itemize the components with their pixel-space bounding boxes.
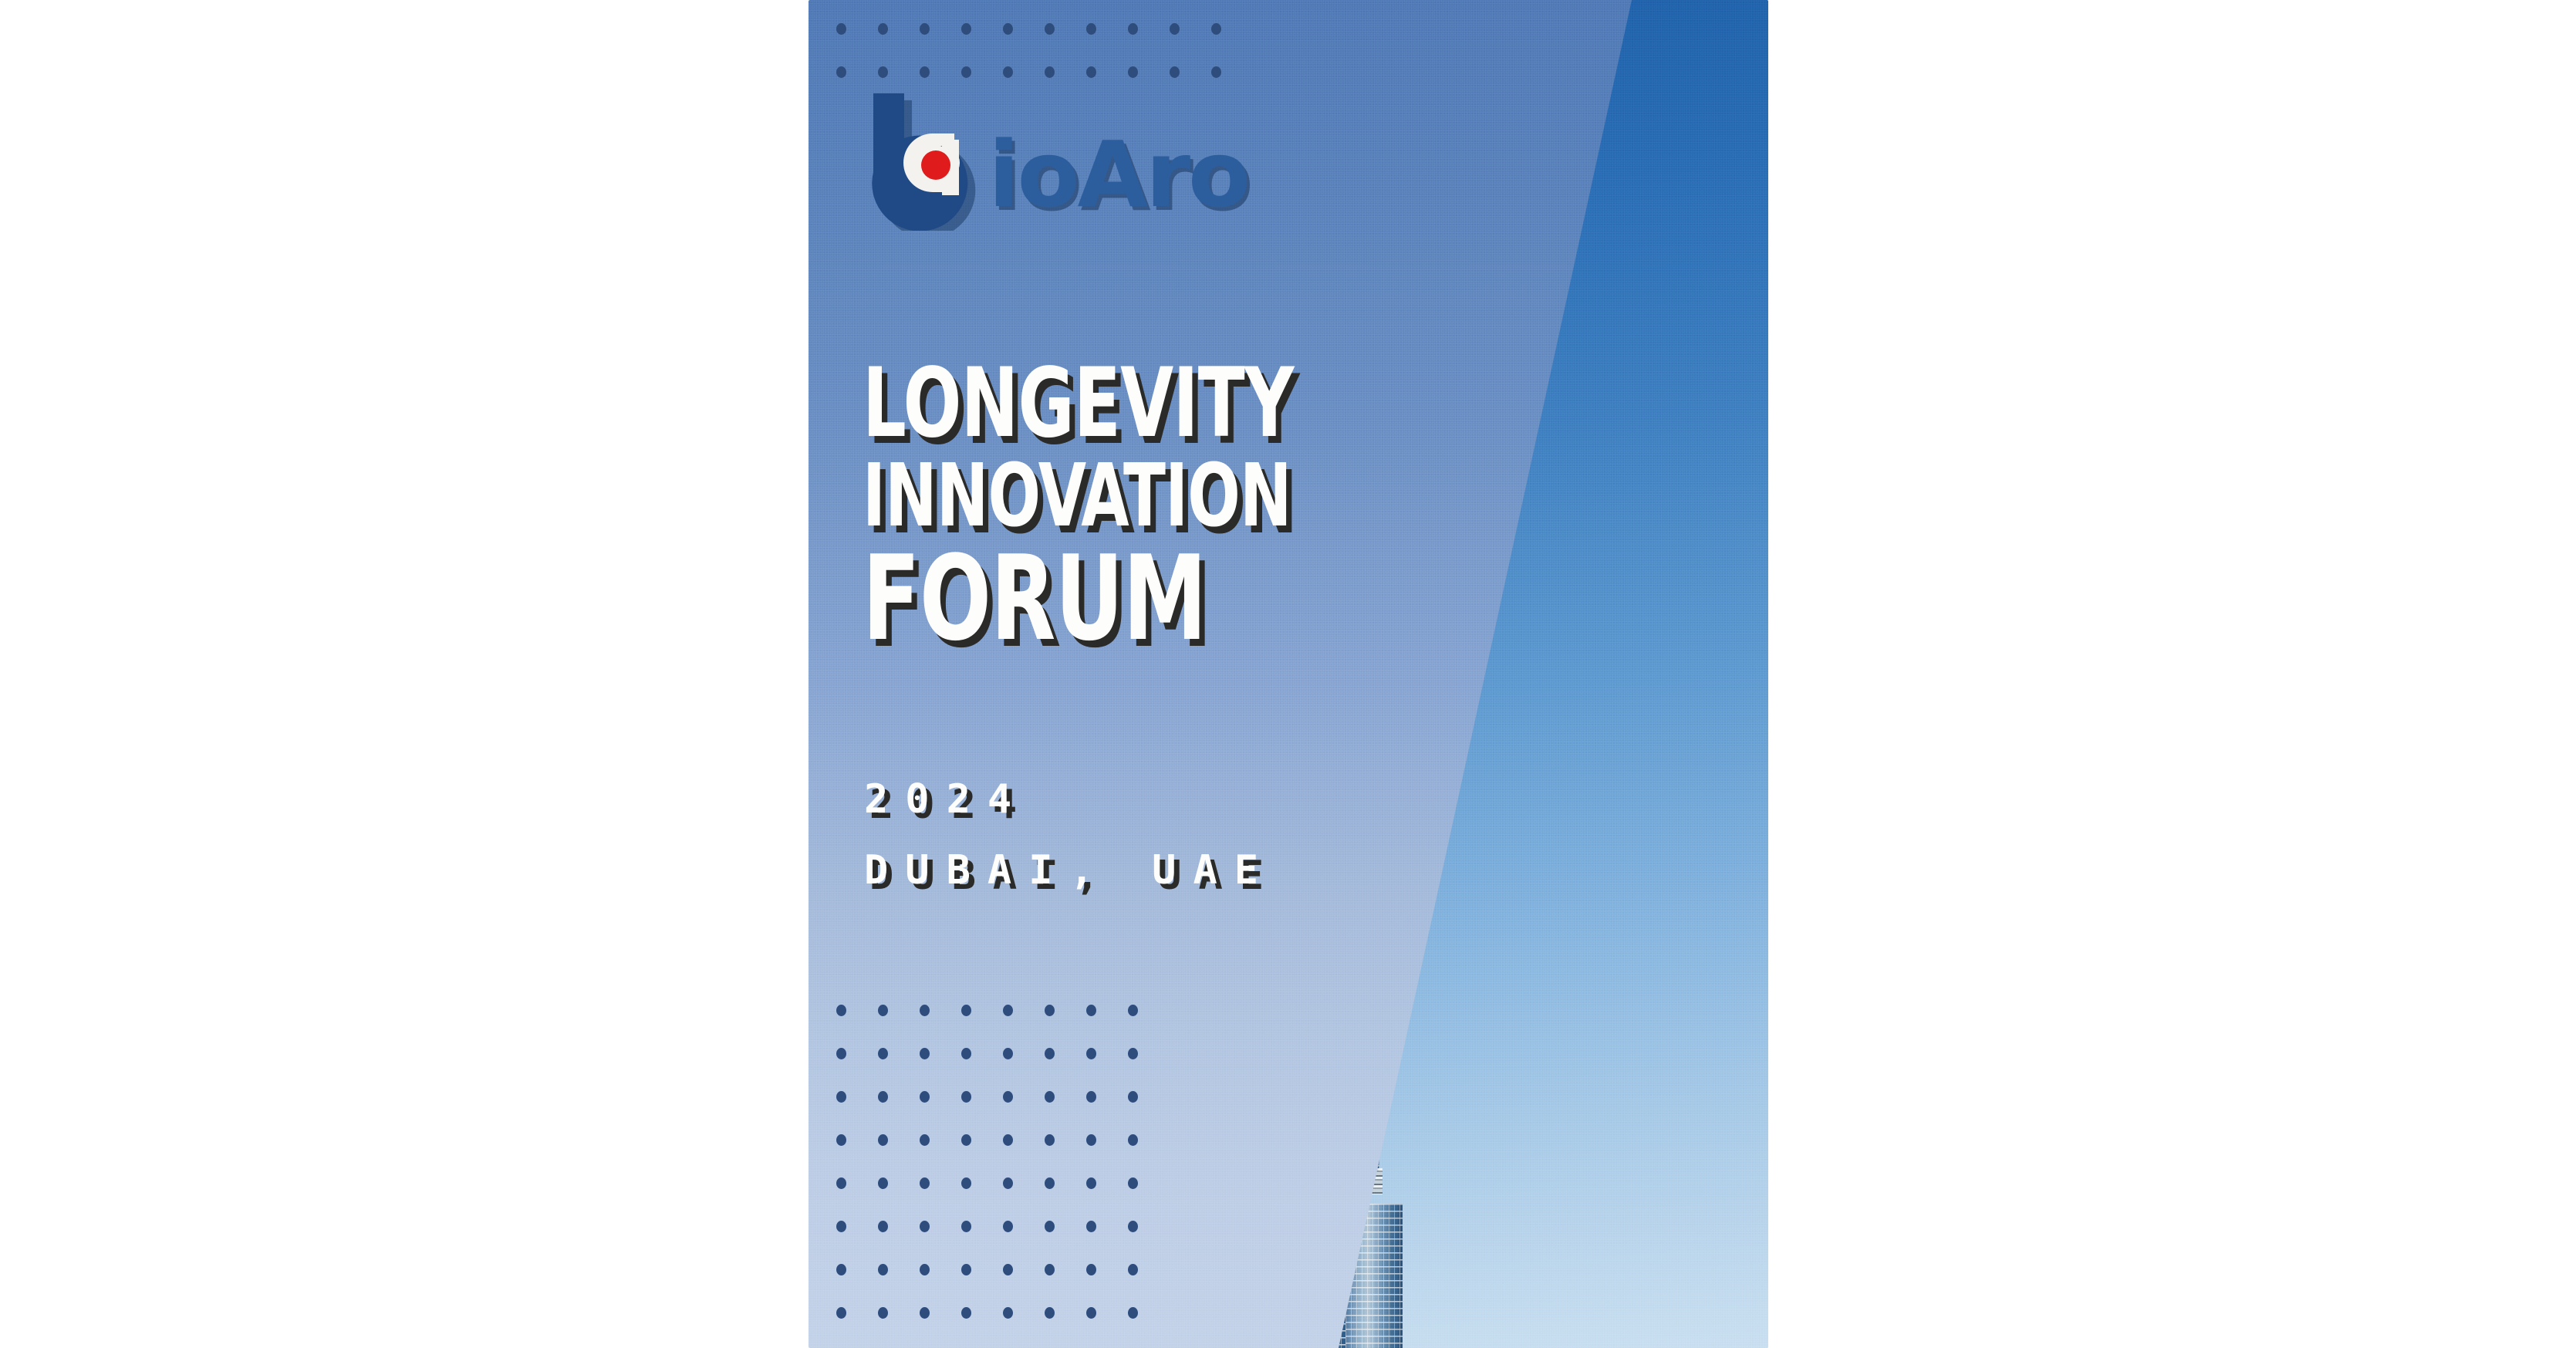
dot bbox=[836, 1221, 846, 1232]
event-location: DUBAI, UAE bbox=[864, 850, 1275, 890]
dot bbox=[1211, 23, 1221, 35]
dot bbox=[1086, 1134, 1096, 1146]
dot bbox=[920, 1307, 930, 1319]
dot bbox=[878, 1048, 888, 1059]
dot bbox=[1086, 1091, 1096, 1103]
dot bbox=[1128, 1221, 1138, 1232]
dot bbox=[1045, 1307, 1055, 1319]
dot bbox=[1045, 1264, 1055, 1275]
dot bbox=[878, 66, 888, 78]
dot bbox=[878, 1091, 888, 1103]
dot bbox=[878, 1264, 888, 1275]
dot bbox=[1003, 1221, 1013, 1232]
dot bbox=[920, 1091, 930, 1103]
dot bbox=[1003, 1177, 1013, 1189]
dot bbox=[1003, 1264, 1013, 1275]
dot bbox=[1128, 1264, 1138, 1275]
dot bbox=[1045, 66, 1055, 78]
dot bbox=[1128, 1307, 1138, 1319]
dot bbox=[920, 23, 930, 35]
dot bbox=[836, 1177, 846, 1189]
dot bbox=[961, 23, 971, 35]
dot bbox=[1045, 1048, 1055, 1059]
dot bbox=[961, 1177, 971, 1189]
dot bbox=[920, 1134, 930, 1146]
dot bbox=[920, 1177, 930, 1189]
dot bbox=[1003, 1134, 1013, 1146]
dot bbox=[836, 66, 846, 78]
dot bbox=[920, 1264, 930, 1275]
headline-line-2: INNOVATION bbox=[863, 459, 1369, 533]
dot bbox=[878, 23, 888, 35]
dot bbox=[836, 23, 846, 35]
dot bbox=[1045, 23, 1055, 35]
bioaro-logo[interactable]: ioAro bbox=[859, 100, 1248, 224]
dot bbox=[878, 1221, 888, 1232]
bioaro-b-mark-icon bbox=[859, 93, 1002, 231]
dot bbox=[836, 1005, 846, 1016]
event-year: 2024 bbox=[864, 779, 1275, 819]
dot bbox=[920, 1005, 930, 1016]
dot bbox=[1045, 1177, 1055, 1189]
dot bbox=[1170, 23, 1180, 35]
headline-line-1: LONGEVITY bbox=[863, 363, 1369, 445]
dot bbox=[836, 1048, 846, 1059]
dot bbox=[1128, 1177, 1138, 1189]
dot bbox=[1086, 1048, 1096, 1059]
dot bbox=[1003, 23, 1013, 35]
dot bbox=[878, 1134, 888, 1146]
dot bbox=[1045, 1091, 1055, 1103]
dot bbox=[961, 1221, 971, 1232]
dot bbox=[961, 66, 971, 78]
dot bbox=[1086, 66, 1096, 78]
dot bbox=[961, 1048, 971, 1059]
dot bbox=[836, 1134, 846, 1146]
dot bbox=[1128, 66, 1138, 78]
dot bbox=[878, 1177, 888, 1189]
dot bbox=[1003, 1005, 1013, 1016]
dot bbox=[1128, 1134, 1138, 1146]
dot bbox=[878, 1307, 888, 1319]
dot bbox=[961, 1134, 971, 1146]
page-canvas: ioAro LONGEVITY INNOVATION FORUM 2024 DU… bbox=[0, 0, 2576, 1348]
dot bbox=[1128, 23, 1138, 35]
dot bbox=[961, 1005, 971, 1016]
dot bbox=[1086, 1307, 1096, 1319]
dot bbox=[1045, 1005, 1055, 1016]
event-meta: 2024 DUBAI, UAE bbox=[864, 779, 1275, 890]
dot bbox=[1003, 1091, 1013, 1103]
dot bbox=[1086, 1264, 1096, 1275]
dot bbox=[1045, 1134, 1055, 1146]
event-poster: ioAro LONGEVITY INNOVATION FORUM 2024 DU… bbox=[809, 0, 1768, 1348]
dot bbox=[1128, 1048, 1138, 1059]
dot bbox=[1086, 1177, 1096, 1189]
poster-headline: LONGEVITY INNOVATION FORUM bbox=[863, 363, 1495, 650]
dot bbox=[920, 1048, 930, 1059]
dot bbox=[1086, 1005, 1096, 1016]
dot bbox=[1211, 66, 1221, 78]
dot bbox=[1128, 1091, 1138, 1103]
dot bbox=[1045, 1221, 1055, 1232]
dot bbox=[1086, 1221, 1096, 1232]
dot bbox=[961, 1307, 971, 1319]
dot bbox=[961, 1264, 971, 1275]
dot bbox=[1086, 23, 1096, 35]
dot bbox=[836, 1091, 846, 1103]
dot bbox=[920, 1221, 930, 1232]
dot bbox=[1003, 66, 1013, 78]
dot bbox=[1003, 1307, 1013, 1319]
dot-grid-icon bbox=[836, 1005, 1160, 1336]
dot bbox=[1003, 1048, 1013, 1059]
dot bbox=[1170, 66, 1180, 78]
dot bbox=[836, 1264, 846, 1275]
dot bbox=[961, 1091, 971, 1103]
headline-line-3: FORUM bbox=[863, 549, 1369, 650]
bioaro-wordmark: ioAro bbox=[988, 129, 1248, 220]
dot bbox=[1128, 1005, 1138, 1016]
dot bbox=[836, 1307, 846, 1319]
dot-grid-icon bbox=[836, 23, 1268, 85]
dot bbox=[920, 66, 930, 78]
dot bbox=[878, 1005, 888, 1016]
